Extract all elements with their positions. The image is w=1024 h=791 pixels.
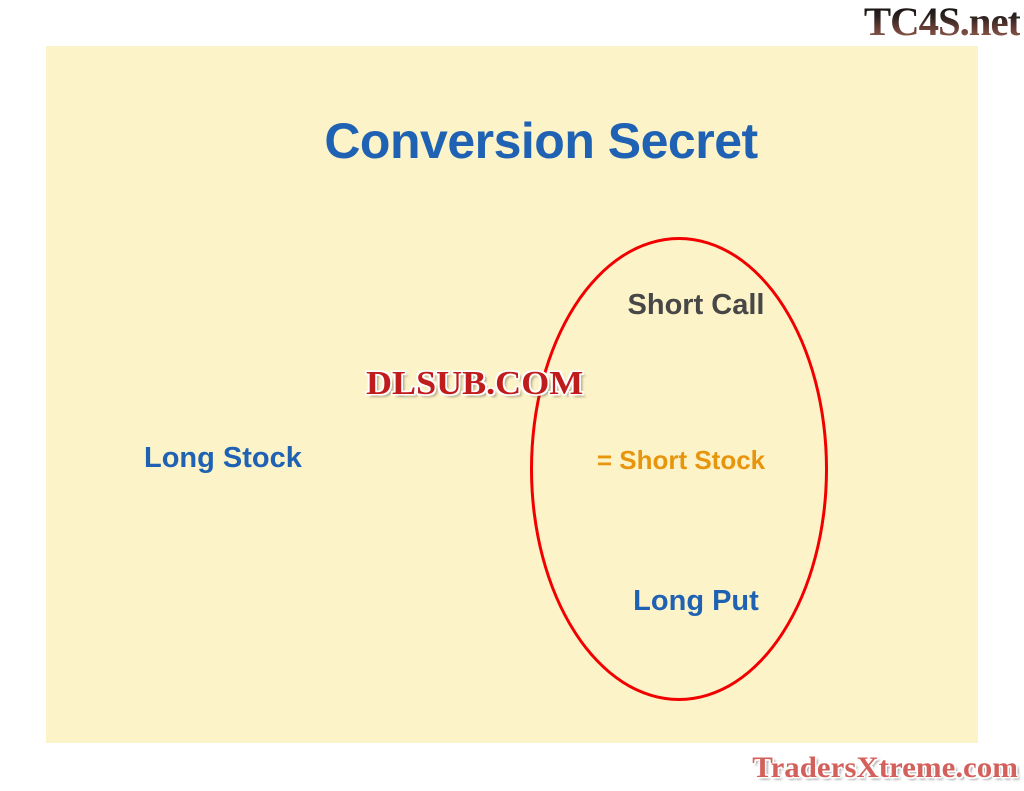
dlsub-watermark: DLSUB.COM: [366, 366, 583, 402]
page-title: Conversion Secret: [261, 113, 821, 169]
leg-label-long-put: Long Put: [606, 585, 786, 618]
leg-label-short-call: Short Call: [606, 289, 786, 322]
slide-panel: Conversion Secret Short Call Long Stock …: [46, 46, 978, 743]
equivalence-label-short-stock: = Short Stock: [576, 445, 786, 476]
tc4s-brand-logo: TC4S.net: [864, 2, 1020, 42]
leg-label-long-stock: Long Stock: [144, 442, 302, 475]
tradersxtreme-brand-logo: TradersXtreme.com: [752, 751, 1018, 785]
